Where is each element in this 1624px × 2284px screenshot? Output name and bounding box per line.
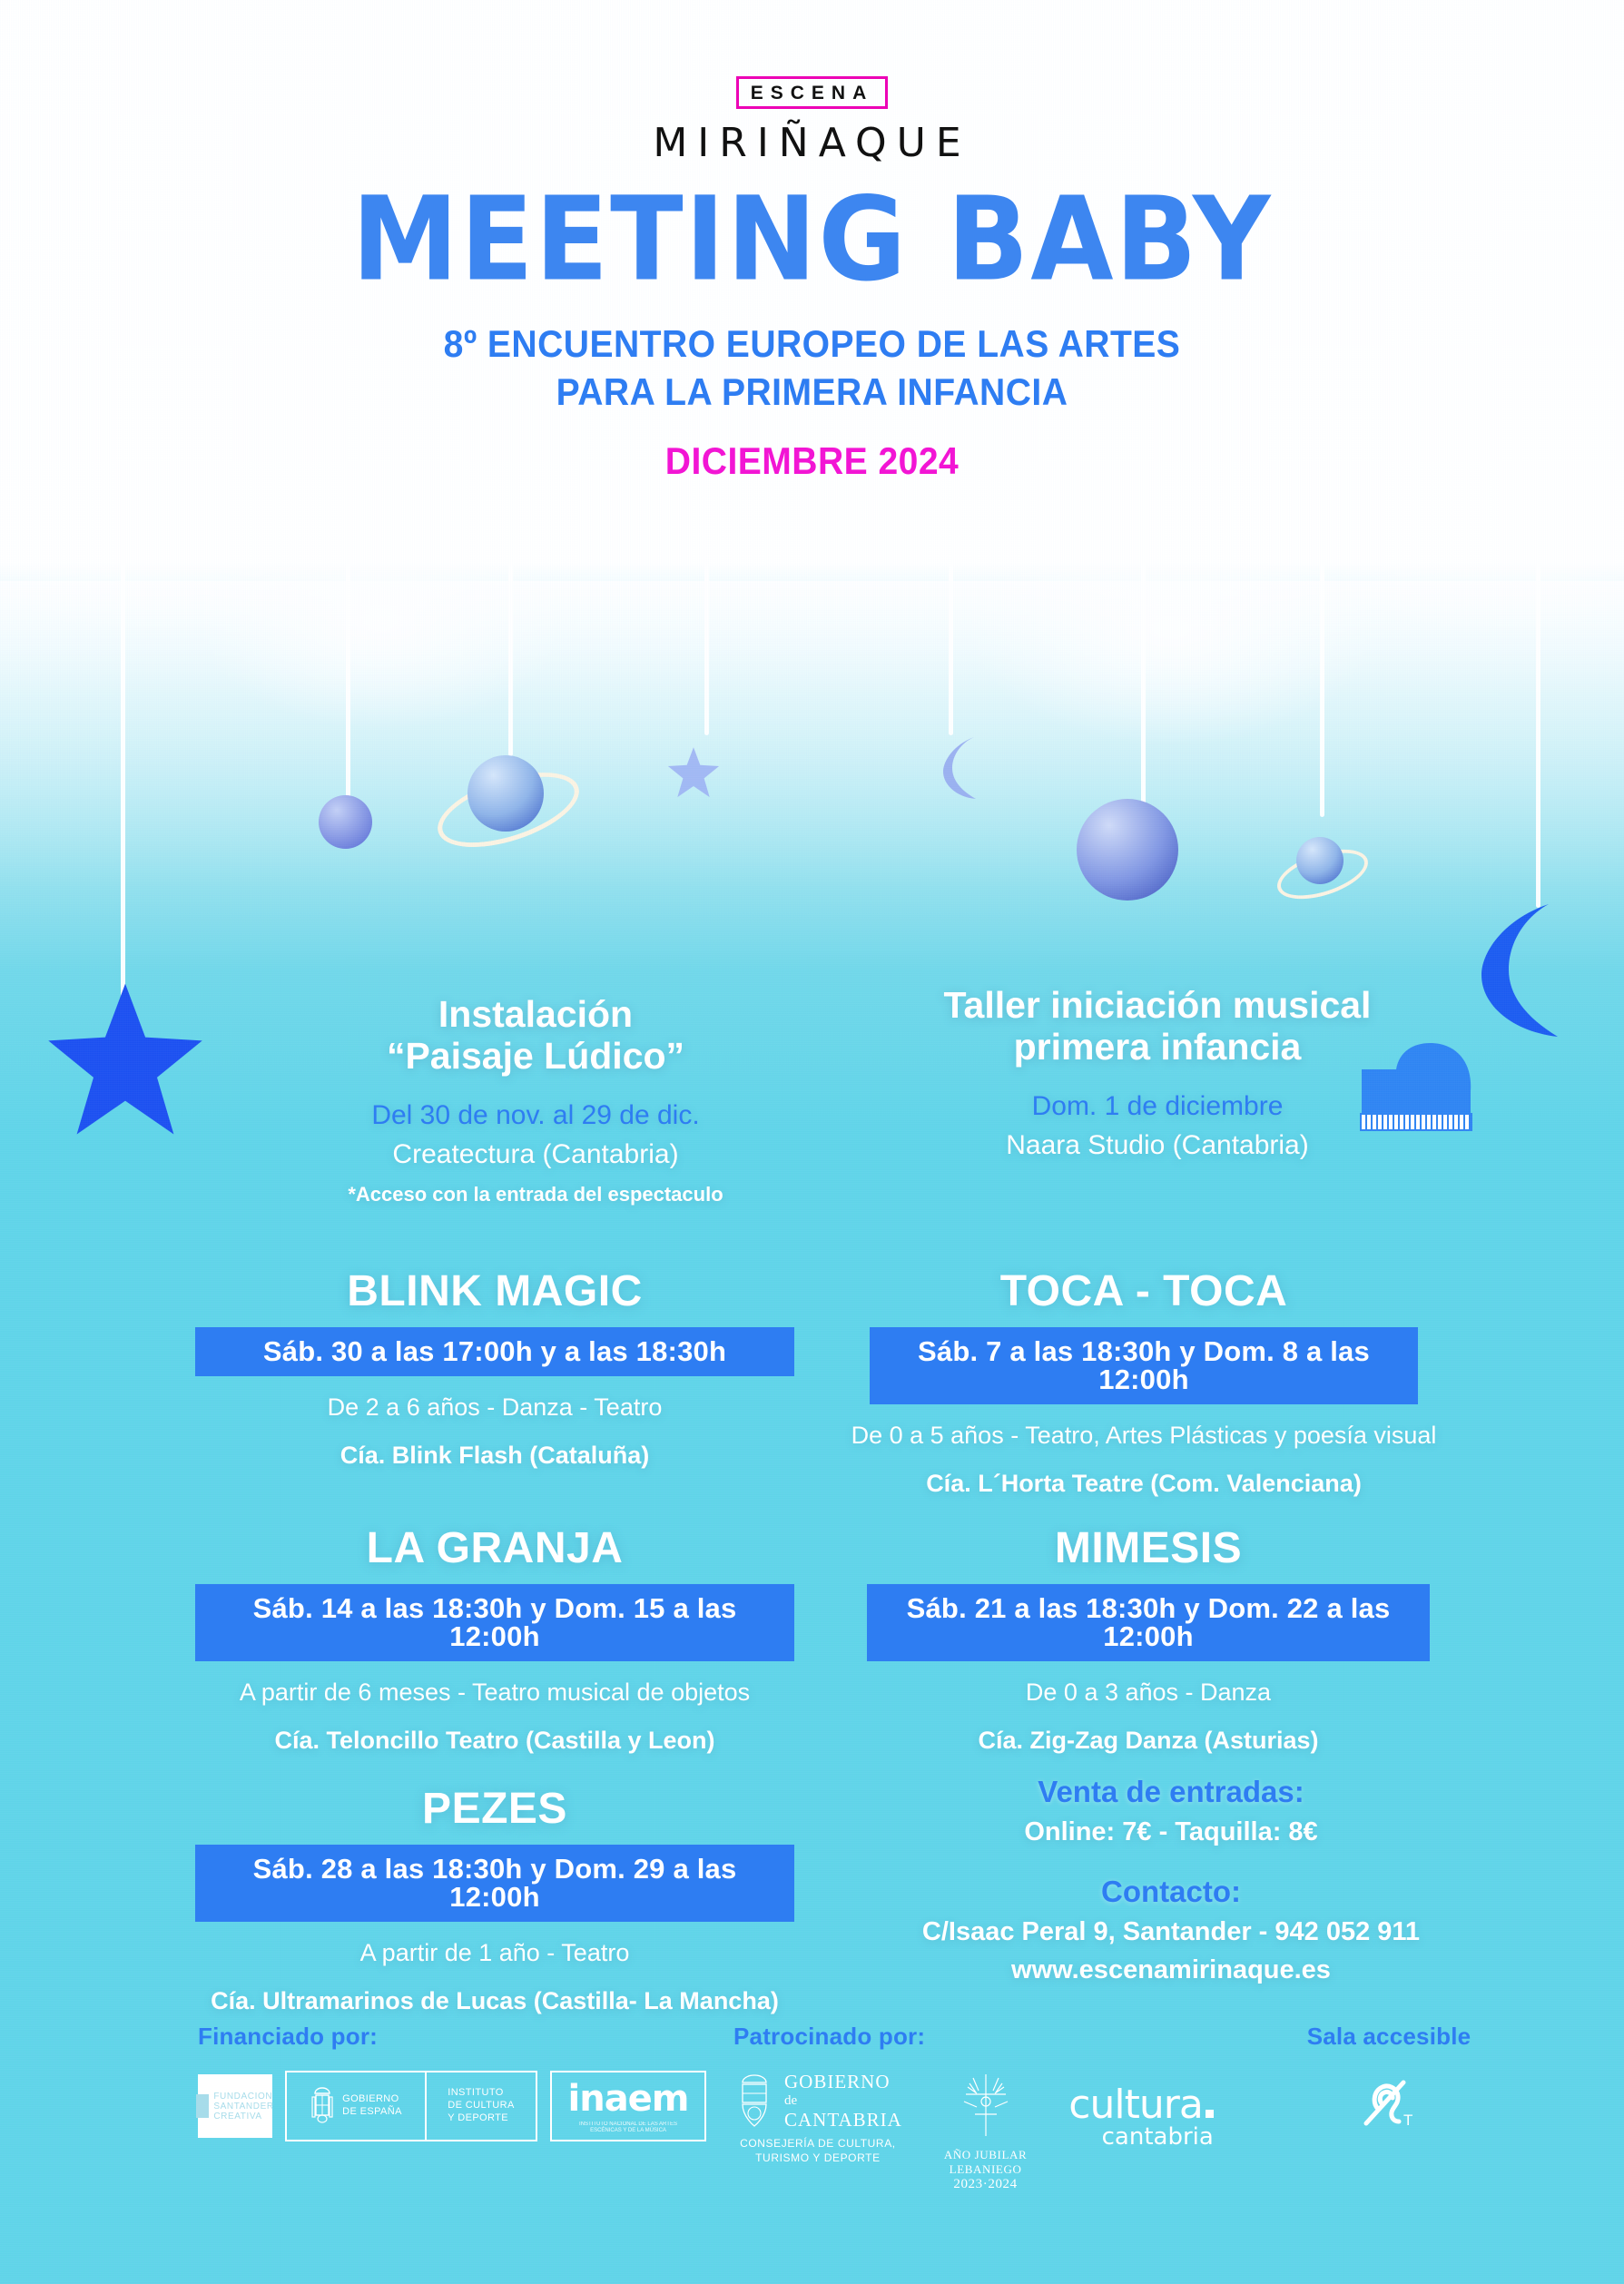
gob-cantabria-line-5: TURISMO Y DEPORTE (733, 2151, 902, 2166)
logo-cultura-cantabria: cultura cantabria (1068, 2071, 1214, 2151)
sponsored-group: Patrocinado por: GOBIERNO de (733, 2023, 1214, 2192)
accessible-group: Sala accesible T (1298, 2023, 1480, 2136)
logo-ano-jubilar-lebaniego: AÑO JUBILAR LEBANIEGO 2023·2024 (944, 2071, 1027, 2192)
show-block-la-granja: LA GRANJA Sáb. 14 a las 18:30h y Dom. 15… (195, 1523, 794, 1755)
workshop-title-line2: primera infancia (867, 1027, 1448, 1068)
show-title: TOCA - TOCA (822, 1266, 1466, 1316)
cultura-wordmark: cultura (1068, 2087, 1203, 2123)
icd-line-3: Y DEPORTE (448, 2112, 514, 2125)
jubilar-line-1: AÑO JUBILAR (944, 2148, 1027, 2162)
contact-heading: Contacto: (908, 1875, 1434, 1909)
show-schedule-banner: Sáb. 28 a las 18:30h y Dom. 29 a las 12:… (195, 1845, 794, 1922)
hanging-moon-blue-icon (1462, 901, 1563, 1039)
financed-group: Financiado por: FUNDACION SANTANDER CREA… (198, 2023, 706, 2141)
contact-website[interactable]: www.escenamirinaque.es (908, 1955, 1434, 1985)
workshop-title-line1: Taller iniciación musical (867, 985, 1448, 1027)
show-schedule-banner: Sáb. 7 a las 18:30h y Dom. 8 a las 12:00… (870, 1327, 1418, 1404)
inaem-wordmark: inaem (568, 2078, 689, 2120)
escudo-cantabria-icon (733, 2073, 775, 2130)
escena-logo-text: ESCENA (751, 84, 874, 103)
icd-line-1: INSTITUTO (448, 2087, 514, 2100)
hanging-star-blue-icon (39, 980, 212, 1139)
show-block-toca-toca: TOCA - TOCA Sáb. 7 a las 18:30h y Dom. 8… (822, 1266, 1466, 1498)
installation-venue: Createctura (Cantabria) (245, 1137, 826, 1172)
page-title: MEETING BABY (0, 184, 1624, 294)
gob-cantabria-line-1: GOBIERNO (784, 2071, 902, 2093)
cruz-lebaniega-icon (953, 2071, 1019, 2140)
fsc-line-1: FUNDACION (213, 2092, 273, 2102)
show-meta: De 0 a 5 años - Teatro, Artes Plásticas … (822, 1422, 1466, 1450)
installation-title-line2: “Paisaje Lúdico” (245, 1036, 826, 1078)
show-block-mimesis: MIMESIS Sáb. 21 a las 18:30h y Dom. 22 a… (867, 1523, 1430, 1755)
financed-heading: Financiado por: (198, 2023, 706, 2051)
hanging-planet-small (319, 795, 372, 849)
escena-logo-box: ESCENA (736, 76, 889, 109)
show-company: Cía. Zig-Zag Danza (Asturias) (867, 1727, 1430, 1755)
hanging-planet-large (1077, 799, 1178, 901)
logo-instituto-cultura-deporte: INSTITUTO DE CULTURA Y DEPORTE (427, 2071, 537, 2141)
inaem-tagline: INSTITUTO NACIONAL DE LAS ARTES ESCÉNICA… (565, 2122, 692, 2134)
show-meta: A partir de 6 meses - Teatro musical de … (195, 1679, 794, 1707)
jubilar-line-2: LEBANIEGO (944, 2162, 1027, 2177)
cultura-dot-icon (1206, 2110, 1214, 2118)
show-title: MIMESIS (867, 1523, 1430, 1573)
fsc-line-3: CREATIVA (213, 2112, 273, 2122)
jubilar-line-3: 2023·2024 (944, 2176, 1027, 2192)
show-company: Cía. Teloncillo Teatro (Castilla y Leon) (195, 1727, 794, 1755)
show-schedule-banner: Sáb. 21 a las 18:30h y Dom. 22 a las 12:… (867, 1584, 1430, 1661)
tickets-prices: Online: 7€ - Taquilla: 8€ (908, 1817, 1434, 1847)
show-block-pezes: PEZES Sáb. 28 a las 18:30h y Dom. 29 a l… (195, 1784, 794, 2015)
workshop-venue: Naara Studio (Cantabria) (867, 1127, 1448, 1163)
hearing-loop-icon: T (1354, 2067, 1423, 2136)
show-block-blink-magic: BLINK MAGIC Sáb. 30 a las 17:00h y a las… (195, 1266, 794, 1470)
gob-espana-line-1: GOBIERNO (342, 2093, 402, 2106)
logo-inaem: inaem INSTITUTO NACIONAL DE LAS ARTES ES… (550, 2071, 706, 2141)
gob-cantabria-line-3: CANTABRIA (784, 2109, 902, 2131)
show-title: BLINK MAGIC (195, 1266, 794, 1316)
poster-footer: Financiado por: FUNDACION SANTANDER CREA… (0, 2012, 1624, 2284)
subtitle-line-1: 8º ENCUENTRO EUROPEO DE LAS ARTES (57, 320, 1568, 367)
accessible-heading: Sala accesible (1298, 2023, 1480, 2051)
fsc-line-2: SANTANDER (213, 2102, 273, 2112)
show-meta: A partir de 1 año - Teatro (195, 1939, 794, 1967)
gob-espana-line-2: DE ESPAÑA (342, 2106, 402, 2119)
ministry-logo-strip: GOBIERNO DE ESPAÑA INSTITUTO DE CULTURA … (285, 2071, 537, 2141)
financed-logo-row: FUNDACION SANTANDER CREATIVA (198, 2071, 706, 2141)
show-meta: De 0 a 3 años - Danza (867, 1679, 1430, 1707)
show-schedule-banner: Sáb. 14 a las 18:30h y Dom. 15 a las 12:… (195, 1584, 794, 1661)
show-meta: De 2 a 6 años - Danza - Teatro (195, 1393, 794, 1422)
hanging-moon-pale-icon (934, 735, 985, 801)
sponsored-logo-row: GOBIERNO de CANTABRIA CONSEJERÍA DE CULT… (733, 2071, 1214, 2192)
hanging-planet-saturn-right (1275, 835, 1363, 908)
show-company: Cía. L´Horta Teatre (Com. Valenciana) (822, 1470, 1466, 1498)
logo-gobierno-de-espana: GOBIERNO DE ESPAÑA (285, 2071, 427, 2141)
show-title: PEZES (195, 1784, 794, 1834)
installation-block-1: Instalación “Paisaje Lúdico” Del 30 de n… (245, 994, 826, 1206)
contact-address: C/Isaac Peral 9, Santander - 942 052 911 (908, 1917, 1434, 1947)
subtitle-line-2: PARA LA PRIMERA INFANCIA (57, 369, 1568, 415)
hanging-star-light-icon (665, 746, 722, 799)
installation-note: *Acceso con la entrada del espectaculo (245, 1183, 826, 1206)
show-title: LA GRANJA (195, 1523, 794, 1573)
show-company: Cía. Blink Flash (Cataluña) (195, 1442, 794, 1470)
poster-header: ESCENA MIRIÑAQUE MEETING BABY 8º ENCUENT… (0, 0, 1624, 483)
gob-cantabria-line-2: de (784, 2093, 902, 2110)
show-schedule-banner: Sáb. 30 a las 17:00h y a las 18:30h (195, 1327, 794, 1376)
mirinaque-logo-text: MIRIÑAQUE (0, 120, 1624, 166)
event-month-badge: DICIEMBRE 2024 (57, 439, 1568, 483)
workshop-date: Dom. 1 de diciembre (867, 1088, 1448, 1124)
poster-root: ESCENA MIRIÑAQUE MEETING BABY 8º ENCUENT… (0, 0, 1624, 2284)
installation-date: Del 30 de nov. al 29 de dic. (245, 1098, 826, 1133)
tickets-heading: Venta de entradas: (908, 1775, 1434, 1809)
logo-gobierno-de-cantabria: GOBIERNO de CANTABRIA CONSEJERÍA DE CULT… (733, 2071, 902, 2165)
tickets-contact-block: Venta de entradas: Online: 7€ - Taquilla… (908, 1775, 1434, 1985)
logo-fundacion-santander-creativa: FUNDACION SANTANDER CREATIVA (198, 2074, 272, 2138)
svg-text:T: T (1403, 2112, 1412, 2129)
hanging-planet-saturn-left (437, 752, 573, 862)
icd-line-2: DE CULTURA (448, 2100, 514, 2112)
gob-cantabria-line-4: CONSEJERÍA DE CULTURA, (733, 2137, 902, 2151)
installation-title-line1: Instalación (245, 994, 826, 1036)
installation-block-2: Taller iniciación musical primera infanc… (867, 985, 1448, 1163)
escudo-espana-icon (310, 2086, 335, 2126)
sponsored-heading: Patrocinado por: (733, 2023, 1214, 2051)
